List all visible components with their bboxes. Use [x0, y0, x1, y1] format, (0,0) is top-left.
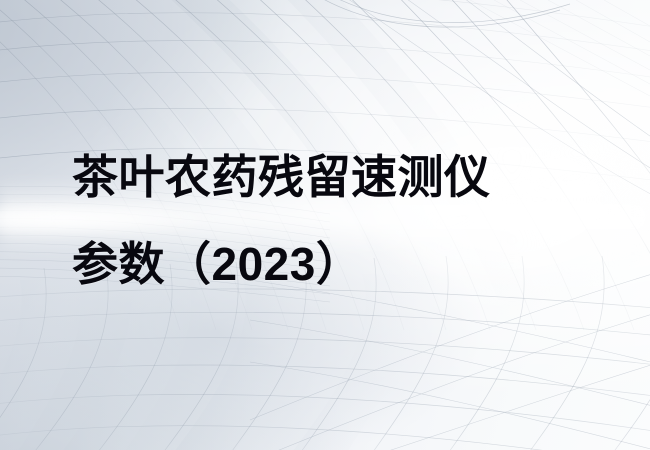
title-banner: 茶叶农药残留速测仪 参数（2023）: [0, 0, 650, 450]
headline-line-1: 茶叶农药残留速测仪: [72, 134, 592, 221]
banner-headline: 茶叶农药残留速测仪 参数（2023）: [72, 134, 592, 308]
headline-line-2: 参数（2023）: [72, 221, 592, 308]
wire-hatch-right: [470, 0, 650, 96]
